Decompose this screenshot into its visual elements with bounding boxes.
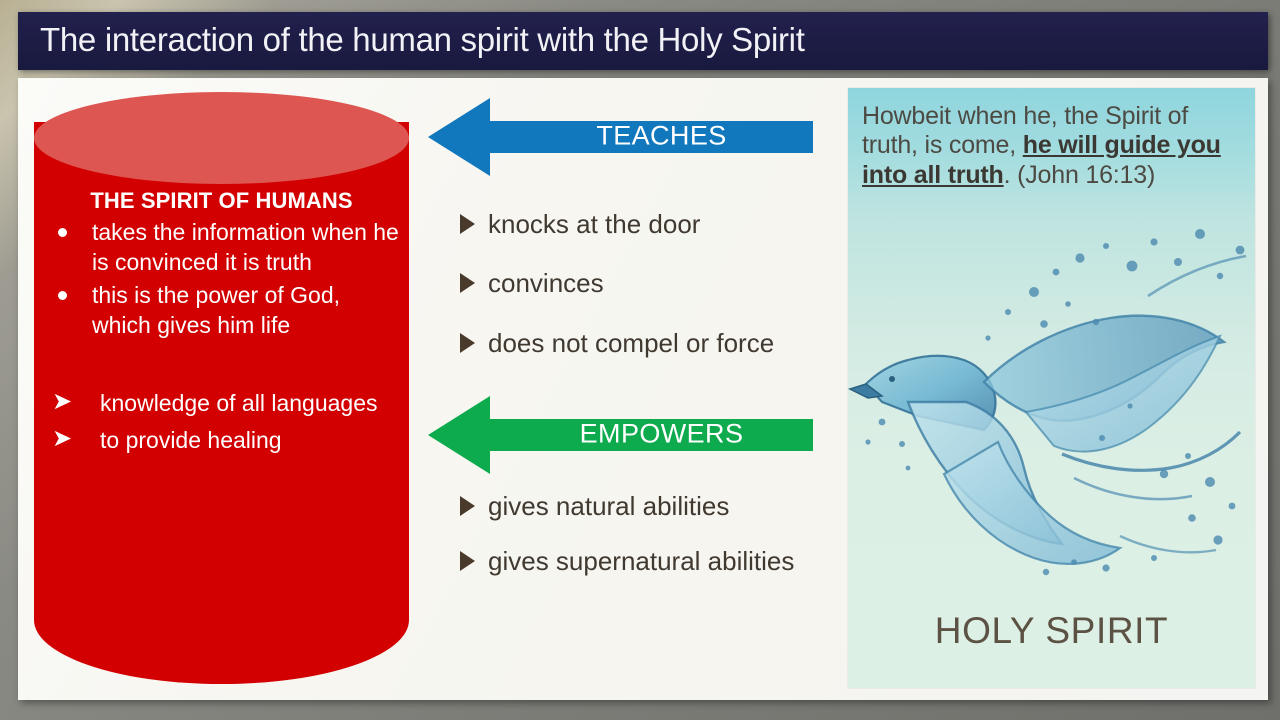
bullet-dot-icon xyxy=(58,291,67,300)
teaches-bullet-list: knocks at the door convinces does not co… xyxy=(460,208,774,386)
list-item-label: gives natural abilities xyxy=(488,491,729,521)
list-item-label: convinces xyxy=(488,268,604,298)
triangle-bullet-icon xyxy=(460,333,475,353)
list-item-label: gives supernatural abilities xyxy=(488,546,794,576)
list-item-label: to provide healing xyxy=(100,427,282,453)
water-splash-dove-image xyxy=(848,206,1255,586)
cylinder-content: THE SPIRIT OF HUMANS takes the informati… xyxy=(34,188,409,461)
holy-spirit-caption: HOLY SPIRIT xyxy=(848,610,1255,652)
list-item: knocks at the door xyxy=(460,208,774,241)
empowers-arrow-group: EMPOWERS xyxy=(428,396,813,474)
teaches-arrow-label: TEACHES xyxy=(510,120,813,151)
list-item: gives natural abilities xyxy=(460,490,794,523)
triangle-bullet-icon xyxy=(460,273,475,293)
list-item-label: takes the information when he is convinc… xyxy=(92,219,399,275)
cylinder-heading: THE SPIRIT OF HUMANS xyxy=(34,188,409,217)
bullet-dot-icon xyxy=(58,228,67,237)
arrow-bullet-icon: ➤ xyxy=(52,423,72,455)
cylinder-bullet-list: takes the information when he is convinc… xyxy=(34,217,409,340)
triangle-bullet-icon xyxy=(460,214,475,234)
holy-spirit-image-panel: Howbeit when he, the Spirit of truth, is… xyxy=(848,88,1255,688)
verse-tail-text: . (John 16:13) xyxy=(1004,161,1155,189)
triangle-bullet-icon xyxy=(460,496,475,516)
list-item-label: knocks at the door xyxy=(488,209,700,239)
list-item-label: this is the power of God, which gives hi… xyxy=(92,282,340,338)
scripture-verse: Howbeit when he, the Spirit of truth, is… xyxy=(848,88,1255,190)
cylinder-sub-bullet-list: ➤ knowledge of all languages ➤ to provid… xyxy=(34,388,409,455)
cylinder-top-ellipse xyxy=(34,92,409,184)
list-item: ➤ to provide healing xyxy=(34,425,409,455)
list-item: gives supernatural abilities xyxy=(460,545,794,578)
slide-title-bar: The interaction of the human spirit with… xyxy=(18,12,1268,70)
list-item: ➤ knowledge of all languages xyxy=(34,388,409,418)
list-item: does not compel or force xyxy=(460,327,774,360)
arrow-bullet-icon: ➤ xyxy=(52,386,72,418)
slide-title: The interaction of the human spirit with… xyxy=(40,21,805,59)
slide-content-board: THE SPIRIT OF HUMANS takes the informati… xyxy=(18,78,1268,700)
list-item: this is the power of God, which gives hi… xyxy=(34,280,409,341)
empowers-bullet-list: gives natural abilities gives supernatur… xyxy=(460,490,794,601)
list-item-label: does not compel or force xyxy=(488,328,774,358)
slide-root: The interaction of the human spirit with… xyxy=(0,0,1280,720)
list-item-label: knowledge of all languages xyxy=(100,390,377,416)
spirit-of-humans-cylinder: THE SPIRIT OF HUMANS takes the informati… xyxy=(34,92,409,684)
empowers-arrow-label: EMPOWERS xyxy=(510,418,813,449)
middle-column: TEACHES knocks at the door convinces doe… xyxy=(428,78,840,700)
list-item: convinces xyxy=(460,267,774,300)
triangle-bullet-icon xyxy=(460,551,475,571)
teaches-arrow-group: TEACHES xyxy=(428,98,813,176)
list-item: takes the information when he is convinc… xyxy=(34,217,409,278)
